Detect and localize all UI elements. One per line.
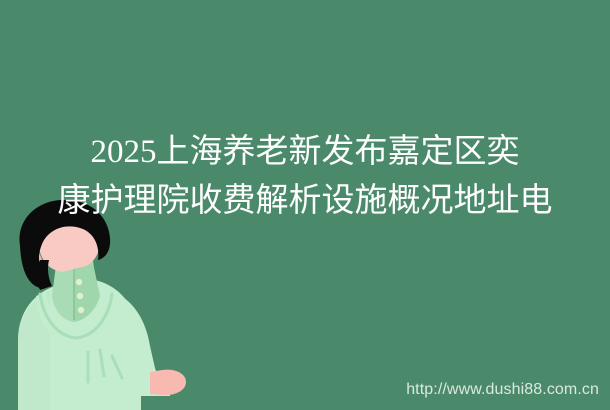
- hand-group: [150, 370, 186, 395]
- person-illustration: [0, 200, 200, 410]
- button-1: [76, 279, 82, 285]
- watermark-url: http://www.dushi88.com.cn: [406, 381, 599, 399]
- button-2: [77, 293, 83, 299]
- button-3: [78, 307, 84, 313]
- headline-line-2: 康护理院收费解析设施概况地址电: [0, 177, 610, 226]
- headline-line-1: 2025上海养老新发布嘉定区奕: [0, 128, 610, 177]
- banner-canvas: 2025上海养老新发布嘉定区奕 康护理院收费解析设施概况地址电 http://w…: [0, 0, 610, 410]
- headline-text: 2025上海养老新发布嘉定区奕 康护理院收费解析设施概况地址电: [0, 128, 610, 226]
- hand-shape: [150, 370, 186, 395]
